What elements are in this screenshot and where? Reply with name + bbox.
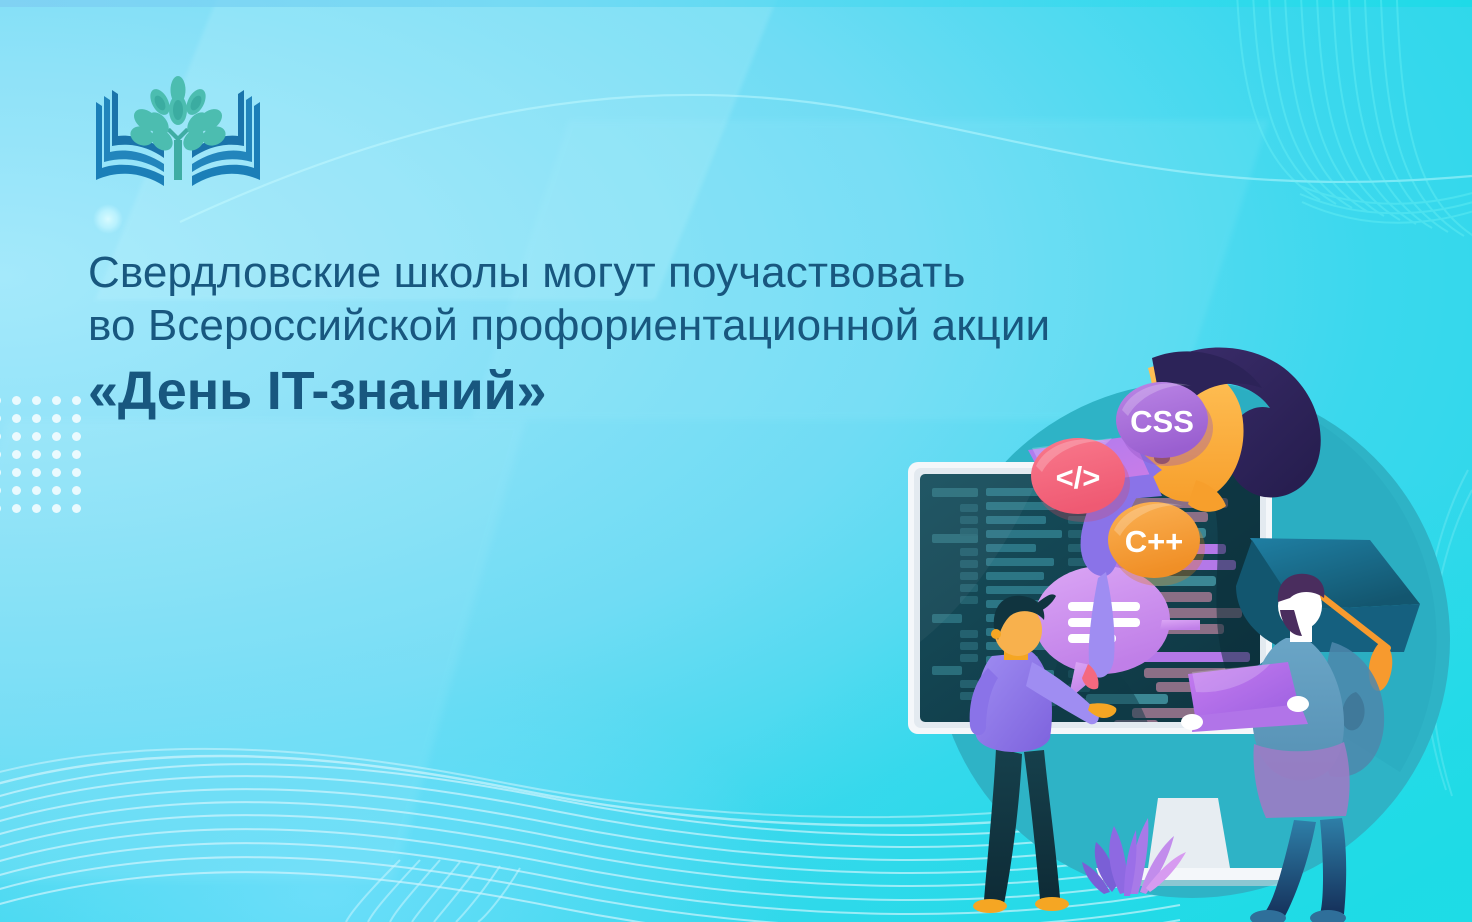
dot (0, 450, 1, 459)
dot (72, 504, 81, 513)
dot (12, 504, 21, 513)
dot (12, 396, 21, 405)
headline-line-2: во Всероссийской профориентационной акци… (88, 299, 1408, 352)
dot (12, 414, 21, 423)
dot (52, 396, 61, 405)
dot (32, 468, 41, 477)
dot (12, 468, 21, 477)
dot (32, 432, 41, 441)
glow-dot (93, 204, 123, 234)
dot (0, 396, 1, 405)
dot (0, 468, 1, 477)
dot (32, 414, 41, 423)
dot (72, 432, 81, 441)
dot (32, 450, 41, 459)
bottom-center-curve-fan (346, 860, 520, 922)
bubble-cpp-label: C++ (1125, 524, 1184, 559)
headline-line-1: Свердловские школы могут поучаствовать (88, 246, 1408, 299)
dot-grid-decoration (0, 396, 78, 516)
dot (72, 396, 81, 405)
dot (72, 414, 81, 423)
dot (72, 468, 81, 477)
dot (52, 504, 61, 513)
dot (52, 414, 61, 423)
dot (52, 486, 61, 495)
dot (52, 468, 61, 477)
dot (72, 486, 81, 495)
dot (32, 396, 41, 405)
dot (72, 450, 81, 459)
dot (12, 450, 21, 459)
dot (0, 432, 1, 441)
bubble-css-label: CSS (1130, 404, 1194, 439)
dot (12, 432, 21, 441)
dot (0, 486, 1, 495)
dot (0, 504, 1, 513)
top-wave-line (180, 95, 1472, 222)
dot (12, 486, 21, 495)
dot (32, 504, 41, 513)
dot (0, 414, 1, 423)
open-book-with-tree-logo (92, 76, 264, 194)
it-education-people-illustration: CSS </> C++ (900, 352, 1472, 922)
dot (52, 450, 61, 459)
banner-root: Свердловские школы могут поучаствовать в… (0, 0, 1472, 922)
dot (52, 432, 61, 441)
bubble-code-label: </> (1056, 460, 1101, 495)
top-right-curve-fan (1236, 0, 1472, 240)
dot (32, 486, 41, 495)
